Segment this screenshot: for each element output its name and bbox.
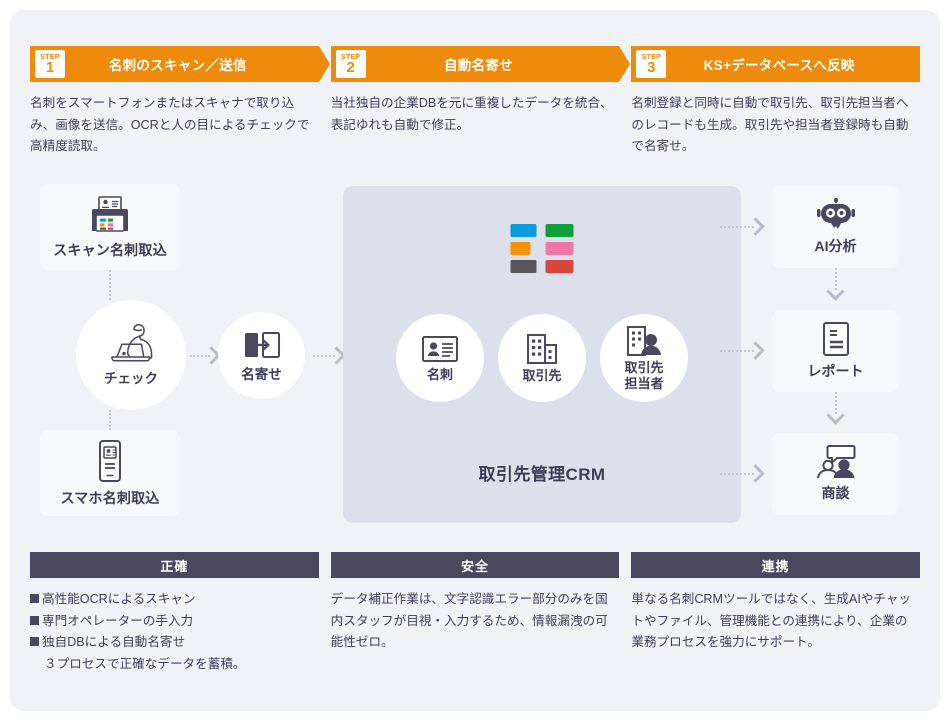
list-item: 高性能OCRによるスキャン	[30, 589, 315, 611]
connector-crm-to-report-arrow	[746, 341, 764, 359]
card-smartphone-label: スマホ名刺取込	[61, 488, 160, 508]
connector-crm-to-shodan-arrow	[746, 464, 764, 482]
crm-panel: 名刺	[343, 186, 741, 523]
business-card-icon	[421, 334, 459, 364]
card-scan-import[interactable]: スキャン名刺取込	[40, 184, 180, 270]
crm-circle-torihikisaki[interactable]: 取引先	[498, 314, 586, 402]
bottom-panel-security-body: データ補正作業は、文字認識エラー部分のみを国内スタッフが目視・入力するため、情報…	[331, 589, 620, 654]
card-ai-analysis[interactable]: AI分析	[772, 186, 899, 268]
step-badge-1: STEP 1	[35, 50, 65, 78]
step-title-2: 自動名寄せ	[366, 54, 620, 74]
crm-circle-tantousha[interactable]: 取引先担当者	[600, 314, 688, 402]
page-root: STEP 1 名刺のスキャン／送信 名刺をスマートフォンまたはスキャナで取り込み…	[0, 0, 950, 721]
list-item: 専門オペレーターの手入力	[30, 611, 315, 633]
connector-crm-to-ai-arrow	[746, 217, 764, 235]
bullet-square-icon	[30, 637, 39, 646]
card-report[interactable]: レポート	[772, 310, 899, 392]
smartphone-card-icon	[93, 439, 127, 483]
bottom-panel-security: 安全 データ補正作業は、文字認識エラー部分のみを国内スタッフが目視・入力するため…	[331, 552, 620, 692]
card-scan-label: スキャン名刺取込	[53, 240, 167, 260]
bottom-panel-security-heading: 安全	[331, 552, 620, 578]
connector-report-to-shodan-arrow	[826, 406, 844, 424]
grid-swatch-red	[546, 260, 574, 273]
bottom-panel-integration: 連携 単なる名刺CRMツールではなく、生成AIやチャットやファイル、管理機能との…	[631, 552, 920, 692]
step-header-bar-3: STEP 3 KS+データベースへ反映	[631, 46, 920, 82]
grid-swatch-pink	[546, 242, 574, 255]
steps-row: STEP 1 名刺のスキャン／送信 名刺をスマートフォンまたはスキャナで取り込み…	[30, 46, 920, 166]
card-shodan[interactable]: 商談	[772, 433, 899, 515]
crm-circle-tantousha-label: 取引先担当者	[624, 360, 663, 391]
person-laptop-icon	[103, 323, 159, 365]
list-item: 独自DBによる自動名寄せ	[30, 632, 315, 654]
step-badge-number-2: 2	[347, 60, 355, 75]
step-column-1: STEP 1 名刺のスキャン／送信 名刺をスマートフォンまたはスキャナで取り込み…	[30, 46, 319, 166]
circle-check[interactable]: チェック	[76, 300, 186, 410]
document-icon	[821, 321, 851, 357]
scanner-icon	[88, 195, 132, 235]
meeting-icon	[815, 445, 857, 479]
crm-circle-torihikisaki-label: 取引先	[522, 368, 561, 383]
crm-panel-title: 取引先管理CRM	[343, 460, 741, 485]
bullet-square-icon	[30, 616, 39, 625]
grid-swatch-green	[546, 224, 574, 237]
bottom-panel-integration-body: 単なる名刺CRMツールではなく、生成AIやチャットやファイル、管理機能との連携に…	[631, 589, 920, 654]
diagram-canvas: STEP 1 名刺のスキャン／送信 名刺をスマートフォンまたはスキャナで取り込み…	[10, 10, 940, 711]
bullet-square-icon	[30, 594, 39, 603]
building-icon	[524, 333, 560, 365]
step-header-bar-2: STEP 2 自動名寄せ	[331, 46, 620, 82]
step-column-3: STEP 3 KS+データベースへ反映 名刺登録と同時に自動で取引先、取引先担当…	[631, 46, 920, 166]
connector-ai-to-report-arrow	[826, 282, 844, 300]
step-title-3: KS+データベースへ反映	[666, 54, 920, 74]
robot-icon	[816, 198, 856, 232]
card-smartphone-import[interactable]: スマホ名刺取込	[40, 430, 180, 516]
crm-color-grid	[511, 224, 574, 273]
step-body-2: 当社独自の企業DBを元に重複したデータを統合、表記ゆれも自動で修正。	[331, 93, 620, 136]
step-column-2: STEP 2 自動名寄せ 当社独自の企業DBを元に重複したデータを統合、表記ゆれ…	[331, 46, 620, 166]
building-person-icon	[625, 325, 663, 357]
crm-circle-meishi[interactable]: 名刺	[396, 314, 484, 402]
grid-swatch-orange	[511, 242, 531, 255]
card-shodan-label: 商談	[822, 483, 850, 503]
step-header-bar-1: STEP 1 名刺のスキャン／送信	[30, 46, 319, 82]
list-subtext: ３プロセスで正確なデータを蓄積。	[30, 654, 315, 676]
connector-check-to-phone	[109, 410, 111, 430]
crm-entity-circles: 名刺	[396, 314, 688, 402]
bottom-panel-accuracy: 正確 高性能OCRによるスキャン 専門オペレーターの手入力 独自DBによる自動名…	[30, 552, 319, 692]
step-badge-number-3: 3	[647, 60, 655, 75]
step-title-1: 名刺のスキャン／送信	[65, 54, 319, 74]
bottom-panel-integration-heading: 連携	[631, 552, 920, 578]
step-body-1: 名刺をスマートフォンまたはスキャナで取り込み、画像を送信。OCRと人の目によるチ…	[30, 93, 319, 158]
card-report-label: レポート	[808, 361, 864, 381]
grid-swatch-blue	[511, 224, 537, 237]
crm-circle-meishi-label: 名刺	[427, 367, 453, 382]
flow-diagram: スキャン名刺取込 スマホ名刺取込	[30, 182, 920, 527]
circle-check-label: チェック	[104, 367, 158, 387]
bottom-panels-row: 正確 高性能OCRによるスキャン 専門オペレーターの手入力 独自DBによる自動名…	[30, 552, 920, 692]
merge-arrow-icon	[244, 329, 280, 361]
step-badge-2: STEP 2	[336, 50, 366, 78]
step-body-3: 名刺登録と同時に自動で取引先、取引先担当者へのレコードも生成。取引先や担当者登録…	[631, 93, 920, 158]
grid-swatch-gray	[511, 260, 537, 273]
step-badge-number-1: 1	[46, 60, 54, 75]
connector-scan-to-check	[109, 270, 111, 300]
bottom-panel-accuracy-heading: 正確	[30, 552, 319, 578]
circle-nayose-label: 名寄せ	[241, 363, 282, 383]
bottom-panel-accuracy-body: 高性能OCRによるスキャン 専門オペレーターの手入力 独自DBによる自動名寄せ …	[30, 589, 319, 676]
card-ai-analysis-label: AI分析	[815, 236, 857, 256]
circle-nayose[interactable]: 名寄せ	[218, 312, 305, 399]
step-badge-3: STEP 3	[636, 50, 666, 78]
